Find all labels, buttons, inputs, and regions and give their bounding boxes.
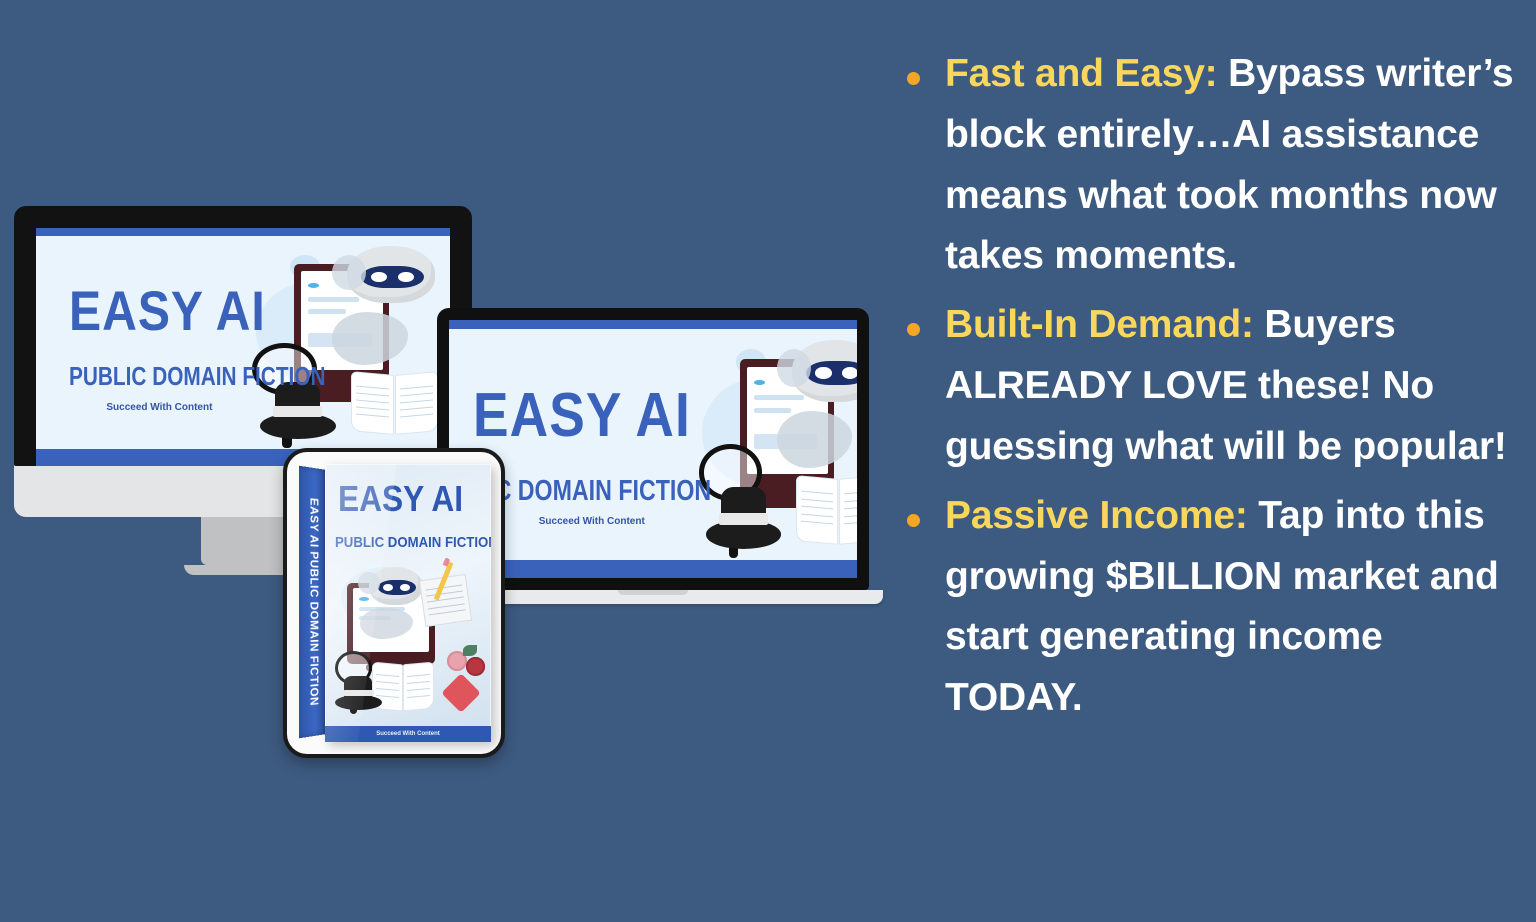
box-tagline: Succeed With Content xyxy=(376,731,440,737)
list-item: Fast and Easy: Bypass writer’s block ent… xyxy=(893,44,1529,287)
robot-ear-icon xyxy=(332,255,366,290)
bullet-dot-icon xyxy=(907,323,920,336)
screen-artwork: EASY AI PUBLIC DOMAIN FICTION Succeed Wi… xyxy=(449,320,857,578)
laptop-trackpad-notch xyxy=(618,590,688,595)
screen-tagline: Succeed With Content xyxy=(106,402,212,413)
tablet-frame: EASY AI PUBLIC DOMAIN FICTION EASY AI PU… xyxy=(283,448,505,758)
rose-icon xyxy=(466,657,485,676)
speech-blob-icon xyxy=(332,312,408,365)
laptop-screen: EASY AI PUBLIC DOMAIN FICTION Succeed Wi… xyxy=(449,320,857,578)
tablet-device: EASY AI PUBLIC DOMAIN FICTION EASY AI PU… xyxy=(283,448,505,758)
robot-ear-icon xyxy=(358,572,380,594)
detective-hat-band xyxy=(273,406,323,417)
product-box-3d: EASY AI PUBLIC DOMAIN FICTION EASY AI PU… xyxy=(297,464,491,742)
box-title-line2: PUBLIC DOMAIN FICTION xyxy=(335,534,491,551)
box-cover-illustration xyxy=(332,564,488,720)
robot-visor-icon xyxy=(361,266,424,289)
bullet-text: Passive Income: Tap into this growing $B… xyxy=(945,486,1529,729)
bullet-dot-icon xyxy=(907,514,920,527)
benefits-list: Fast and Easy: Bypass writer’s block ent… xyxy=(893,44,1529,737)
cover-illustration xyxy=(706,330,857,567)
robot-visor-icon xyxy=(806,361,857,386)
bullet-text: Built-In Demand: Buyers ALREADY LOVE the… xyxy=(945,295,1529,477)
list-item: Built-In Demand: Buyers ALREADY LOVE the… xyxy=(893,295,1529,477)
detective-hat-band xyxy=(719,513,768,525)
product-box-spine-text: EASY AI PUBLIC DOMAIN FICTION xyxy=(308,497,319,706)
detective-hat-band xyxy=(343,690,374,696)
bullet-dot-icon xyxy=(907,72,920,85)
robot-visor-icon xyxy=(378,580,416,595)
bullet-lead: Passive Income: xyxy=(945,494,1248,537)
speech-blob-icon xyxy=(777,411,852,468)
heart-icon xyxy=(441,673,481,713)
open-book-icon xyxy=(796,473,857,544)
promo-slide: EASY AI PUBLIC DOMAIN FICTION Succeed Wi… xyxy=(0,0,1536,922)
monitor-screen: EASY AI PUBLIC DOMAIN FICTION Succeed Wi… xyxy=(36,228,450,466)
open-book-icon xyxy=(372,661,434,711)
screen-title-line1: EASY AI xyxy=(69,285,266,337)
leaf-icon xyxy=(463,645,477,656)
laptop: EASY AI PUBLIC DOMAIN FICTION Succeed Wi… xyxy=(437,308,897,604)
box-title-line1: EASY AI xyxy=(338,478,463,520)
box-footer-bar: Succeed With Content xyxy=(325,726,491,742)
device-mockup-group: EASY AI PUBLIC DOMAIN FICTION Succeed Wi… xyxy=(0,0,900,922)
bullet-lead: Fast and Easy: xyxy=(945,52,1217,95)
artwork-top-bar xyxy=(36,228,450,236)
bullet-text: Fast and Easy: Bypass writer’s block ent… xyxy=(945,44,1529,287)
screen-tagline: Succeed With Content xyxy=(539,516,645,527)
bullet-lead: Built-In Demand: xyxy=(945,303,1254,346)
list-item: Passive Income: Tap into this growing $B… xyxy=(893,486,1529,729)
open-book-icon xyxy=(351,369,439,435)
screen-title-line2: PUBLIC DOMAIN FICTION xyxy=(69,361,326,392)
cover-illustration xyxy=(260,238,450,457)
screen-title-line1: EASY AI xyxy=(473,387,691,444)
monitor-bezel: EASY AI PUBLIC DOMAIN FICTION Succeed Wi… xyxy=(14,206,472,466)
product-box-front: EASY AI PUBLIC DOMAIN FICTION xyxy=(325,464,491,742)
screen-artwork: EASY AI PUBLIC DOMAIN FICTION Succeed Wi… xyxy=(36,228,450,466)
product-box-spine: EASY AI PUBLIC DOMAIN FICTION xyxy=(299,466,327,739)
artwork-top-bar xyxy=(449,320,857,329)
